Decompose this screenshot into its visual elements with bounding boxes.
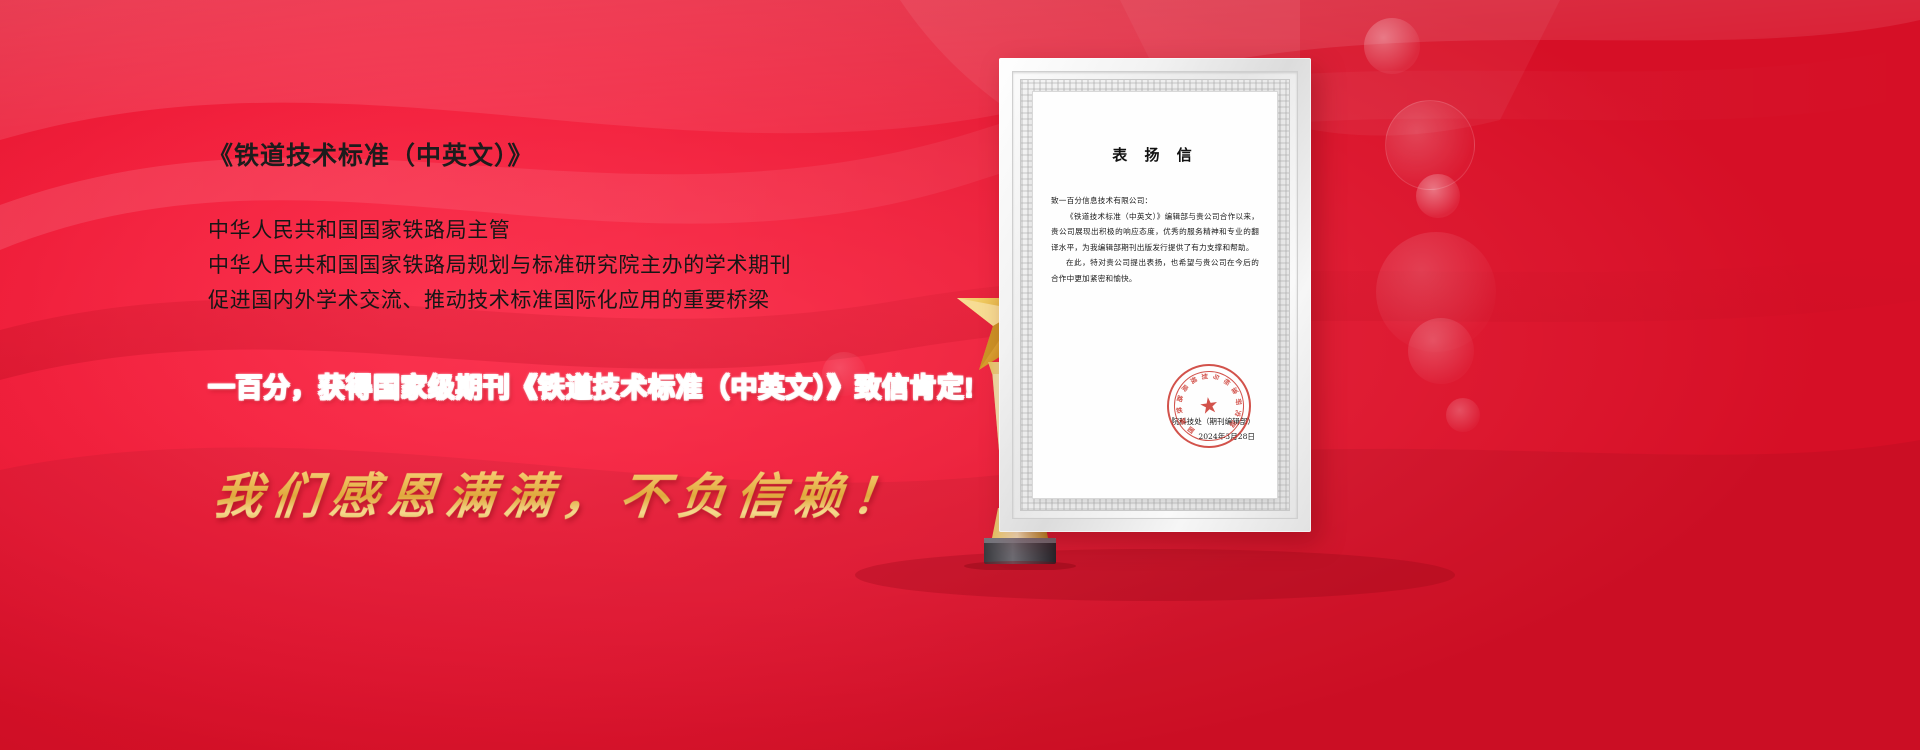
decorative-bubble bbox=[1408, 318, 1474, 384]
certificate-frame: 表 扬 信 致一百分信息技术有限公司： 《铁道技术标准（中英文）》编辑部与贵公司… bbox=[999, 58, 1311, 532]
headline-text: 一百分，获得国家级期刊《铁道技术标准（中英文）》致信肯定! bbox=[208, 366, 968, 405]
description-line: 促进国内外学术交流、推动技术标准国际化应用的重要桥梁 bbox=[208, 283, 968, 318]
certificate-paper: 表 扬 信 致一百分信息技术有限公司： 《铁道技术标准（中英文）》编辑部与贵公司… bbox=[1033, 92, 1277, 498]
banner-copy-block: 《铁道技术标准（中英文）》 中华人民共和国国家铁路局主管 中华人民共和国国家铁路… bbox=[208, 140, 968, 528]
description-line: 中华人民共和国国家铁路局规划与标准研究院主办的学术期刊 bbox=[208, 248, 968, 283]
journal-title: 《铁道技术标准（中英文）》 bbox=[208, 140, 968, 173]
certificate-title: 表 扬 信 bbox=[1051, 144, 1259, 165]
promotional-banner: 《铁道技术标准（中英文）》 中华人民共和国国家铁路局主管 中华人民共和国国家铁路… bbox=[0, 0, 1920, 750]
certificate-salutation: 致一百分信息技术有限公司： bbox=[1051, 193, 1259, 209]
description-line: 中华人民共和国国家铁路局主管 bbox=[208, 213, 968, 248]
calligraphy-slogan: 我们感恩满满，不负信赖！ bbox=[210, 457, 971, 528]
decorative-bubble bbox=[1446, 398, 1480, 432]
description-list: 中华人民共和国国家铁路局主管 中华人民共和国国家铁路局规划与标准研究院主办的学术… bbox=[208, 213, 968, 318]
certificate-paragraph: 《铁道技术标准（中英文）》编辑部与贵公司合作以来，贵公司展现出积极的响应态度，优… bbox=[1051, 209, 1259, 256]
certificate-paragraph: 在此，特对贵公司提出表扬，也希望与贵公司在今后的合作中更加紧密和愉快。 bbox=[1051, 255, 1259, 286]
decorative-bubble bbox=[1416, 174, 1460, 218]
decorative-bubble bbox=[1364, 18, 1420, 74]
